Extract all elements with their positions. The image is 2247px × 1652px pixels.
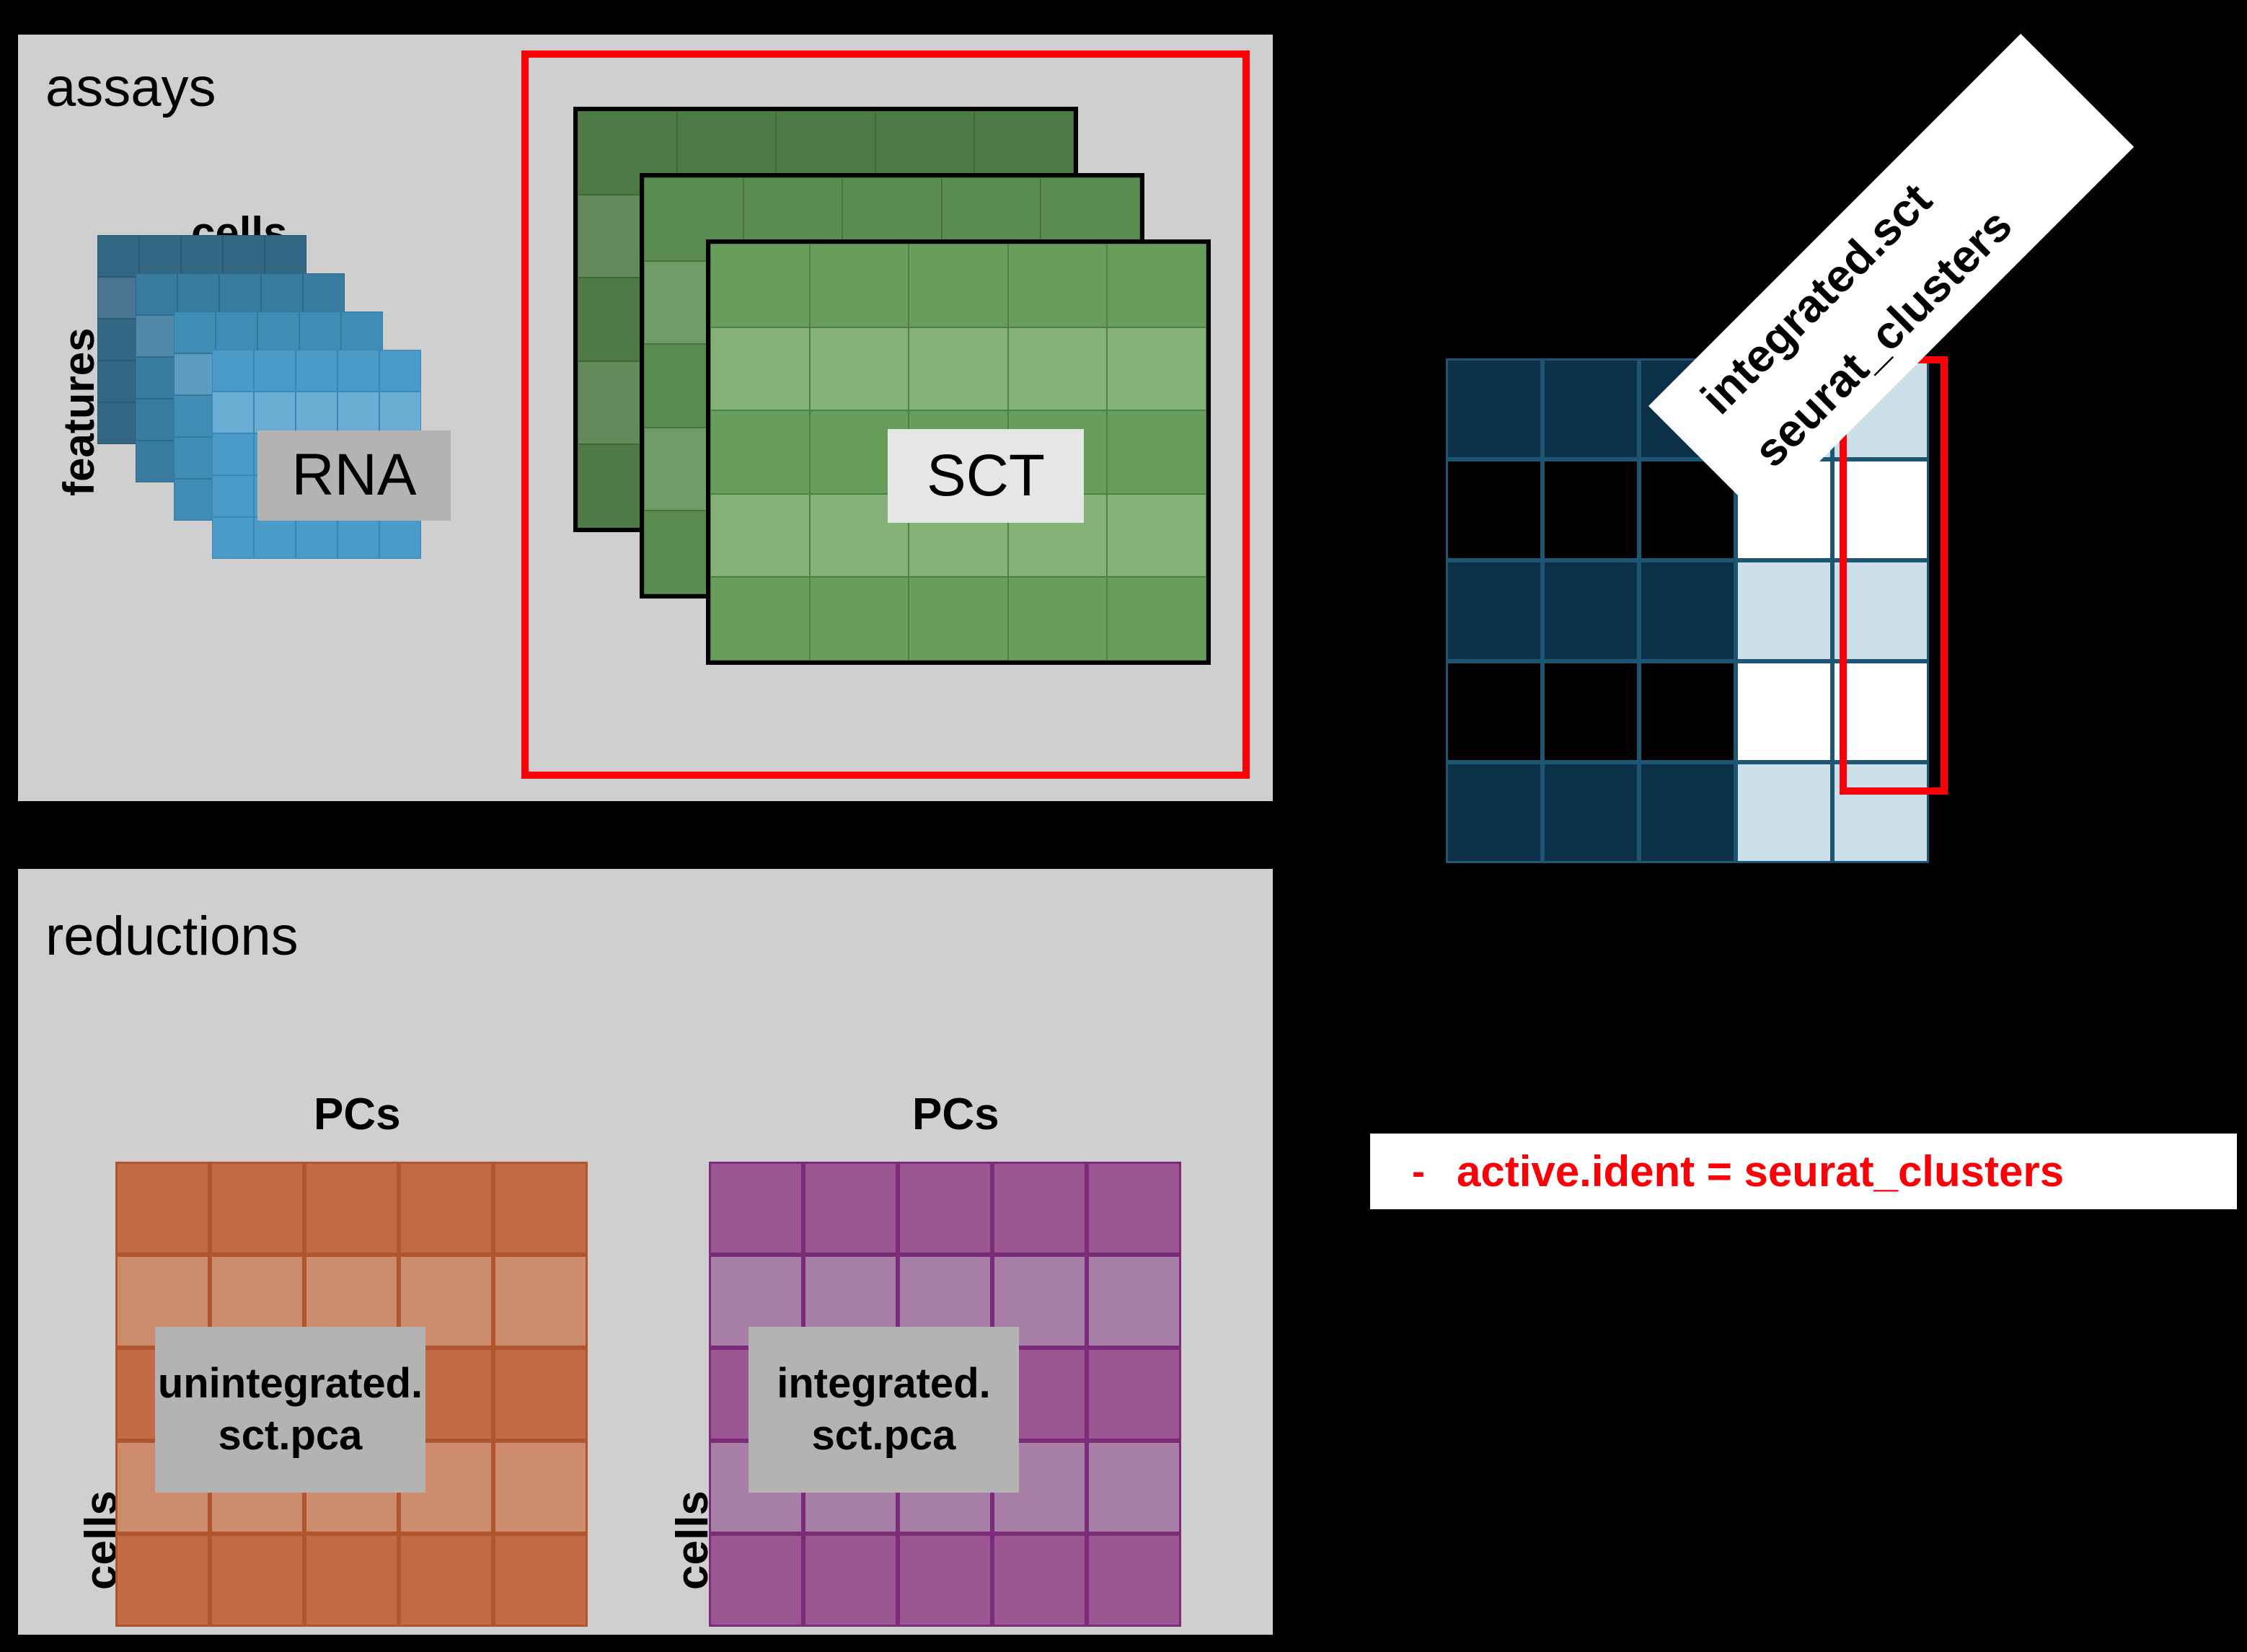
grid-cell: [710, 494, 810, 578]
grid-cell: [493, 1441, 588, 1534]
grid-cell: [1087, 1348, 1181, 1441]
grid-cell: [174, 312, 216, 353]
grid-cell: [898, 1534, 992, 1627]
table-cell: [1446, 661, 1542, 762]
unintegrated-label-line-2: sct.pca: [218, 1410, 363, 1462]
grid-cell: [261, 273, 303, 315]
grid-cell: [212, 475, 254, 517]
grid-cell: [493, 1162, 588, 1255]
grid-cell: [710, 327, 810, 411]
grid-cell: [257, 312, 299, 353]
grid-cell: [303, 273, 345, 315]
grid-cell: [181, 235, 223, 277]
grid-cell: [254, 350, 296, 392]
grid-cell: [97, 277, 139, 319]
table-cell-integrated-sct: [1736, 661, 1832, 762]
integrated-label-line-2: sct.pca: [812, 1410, 956, 1462]
grid-cell: [1008, 577, 1108, 661]
grid-cell: [341, 312, 383, 353]
grid-cell: [97, 235, 139, 277]
table-cell-integrated-sct: [1736, 560, 1832, 661]
grid-cell: [216, 312, 257, 353]
grid-cell: [139, 235, 181, 277]
grid-cell: [136, 399, 177, 441]
grid-cell: [1107, 494, 1206, 578]
grid-cell: [265, 235, 306, 277]
grid-cell: [254, 517, 296, 559]
table-cell: [1542, 560, 1639, 661]
grid-cell: [296, 350, 337, 392]
grid-cell: [810, 244, 909, 327]
grid-cell: [1107, 410, 1206, 494]
grid-cell: [97, 402, 139, 444]
grid-cell: [399, 1534, 493, 1627]
grid-cell: [1107, 577, 1206, 661]
table-cell: [1446, 560, 1542, 661]
grid-cell: [210, 1162, 304, 1255]
grid-cell: [810, 327, 909, 411]
grid-cell: [337, 517, 379, 559]
grid-cell: [810, 577, 909, 661]
grid-cell: [992, 1534, 1087, 1627]
grid-cell: [174, 353, 216, 395]
table-cell: [1542, 358, 1639, 459]
table-cell: [1639, 560, 1736, 661]
grid-cell: [909, 327, 1008, 411]
table-cell: [1639, 762, 1736, 863]
grid-cell: [898, 1162, 992, 1255]
grid-cell: [337, 392, 379, 433]
grid-cell: [304, 1162, 399, 1255]
grid-cell: [710, 410, 810, 494]
integrated-label-line-1: integrated.: [777, 1358, 991, 1410]
assays-panel-title: assays: [45, 56, 216, 119]
grid-cell: [210, 1534, 304, 1627]
pcs-axis-label-right: PCs: [912, 1089, 999, 1140]
grid-cell: [97, 361, 139, 402]
grid-cell: [304, 1534, 399, 1627]
grid-cell: [803, 1162, 898, 1255]
grid-cell: [909, 577, 1008, 661]
grid-cell: [115, 1534, 210, 1627]
grid-cell: [219, 273, 261, 315]
grid-cell: [1087, 1162, 1181, 1255]
grid-cell: [909, 244, 1008, 327]
table-cell: [1446, 358, 1542, 459]
grid-cell: [174, 437, 216, 479]
unintegrated-label-line-1: unintegrated.: [158, 1358, 423, 1410]
sct-assay-label-text: SCT: [927, 439, 1045, 513]
table-cell: [1639, 661, 1736, 762]
grid-cell: [299, 312, 341, 353]
grid-cell: [97, 319, 139, 361]
grid-cell: [136, 273, 177, 315]
grid-cell: [379, 350, 421, 392]
grid-cell: [254, 392, 296, 433]
grid-cell: [1087, 1255, 1181, 1348]
table-cell: [1542, 459, 1639, 560]
rna-assay-label: RNA: [257, 430, 451, 521]
grid-cell: [174, 395, 216, 437]
grid-cell: [174, 479, 216, 521]
grid-cell: [223, 235, 265, 277]
grid-cell: [136, 441, 177, 482]
grid-cell: [710, 244, 810, 327]
grid-cell: [136, 315, 177, 357]
grid-cell: [212, 517, 254, 559]
assays-panel: assays features cells RNA: [18, 35, 1273, 801]
grid-cell: [212, 433, 254, 475]
grid-cell: [1087, 1534, 1181, 1627]
grid-cell: [177, 273, 219, 315]
table-cell-integrated-sct: [1736, 762, 1832, 863]
grid-cell: [493, 1348, 588, 1441]
integrated-sct-pca-label: integrated. sct.pca: [749, 1327, 1019, 1493]
grid-cell: [1107, 244, 1206, 327]
grid-cell: [399, 1162, 493, 1255]
grid-cell: [803, 1534, 898, 1627]
table-cell: [1542, 661, 1639, 762]
rna-assay-label-text: RNA: [291, 438, 416, 513]
table-cell: [1542, 762, 1639, 863]
reductions-panel-title: reductions: [45, 905, 299, 968]
grid-cell: [337, 350, 379, 392]
active-ident-note-box: - active.ident = seurat_clusters: [1370, 1134, 2237, 1209]
grid-cell: [379, 517, 421, 559]
grid-cell: [1008, 244, 1108, 327]
grid-cell: [379, 392, 421, 433]
grid-cell: [493, 1534, 588, 1627]
grid-cell: [1008, 327, 1108, 411]
note-text: active.ident = seurat_clusters: [1457, 1147, 2064, 1196]
table-cell: [1446, 762, 1542, 863]
grid-cell: [115, 1162, 210, 1255]
unintegrated-sct-pca-label: unintegrated. sct.pca: [155, 1327, 425, 1493]
grid-cell: [1107, 327, 1206, 411]
grid-cell: [709, 1534, 803, 1627]
table-cell: [1446, 459, 1542, 560]
grid-cell: [710, 577, 810, 661]
grid-cell: [709, 1162, 803, 1255]
grid-cell: [296, 392, 337, 433]
sct-assay-label: SCT: [888, 429, 1084, 523]
features-axis-label: features: [54, 328, 104, 496]
grid-cell: [136, 357, 177, 399]
grid-cell: [212, 350, 254, 392]
grid-cell: [493, 1255, 588, 1348]
grid-cell: [1087, 1441, 1181, 1534]
grid-cell: [992, 1162, 1087, 1255]
grid-cell: [296, 517, 337, 559]
note-bullet: -: [1412, 1149, 1425, 1194]
pcs-axis-label-left: PCs: [314, 1089, 401, 1140]
reductions-panel: reductions PCs cells unintegrated. sct.p…: [18, 869, 1273, 1635]
grid-cell: [212, 392, 254, 433]
